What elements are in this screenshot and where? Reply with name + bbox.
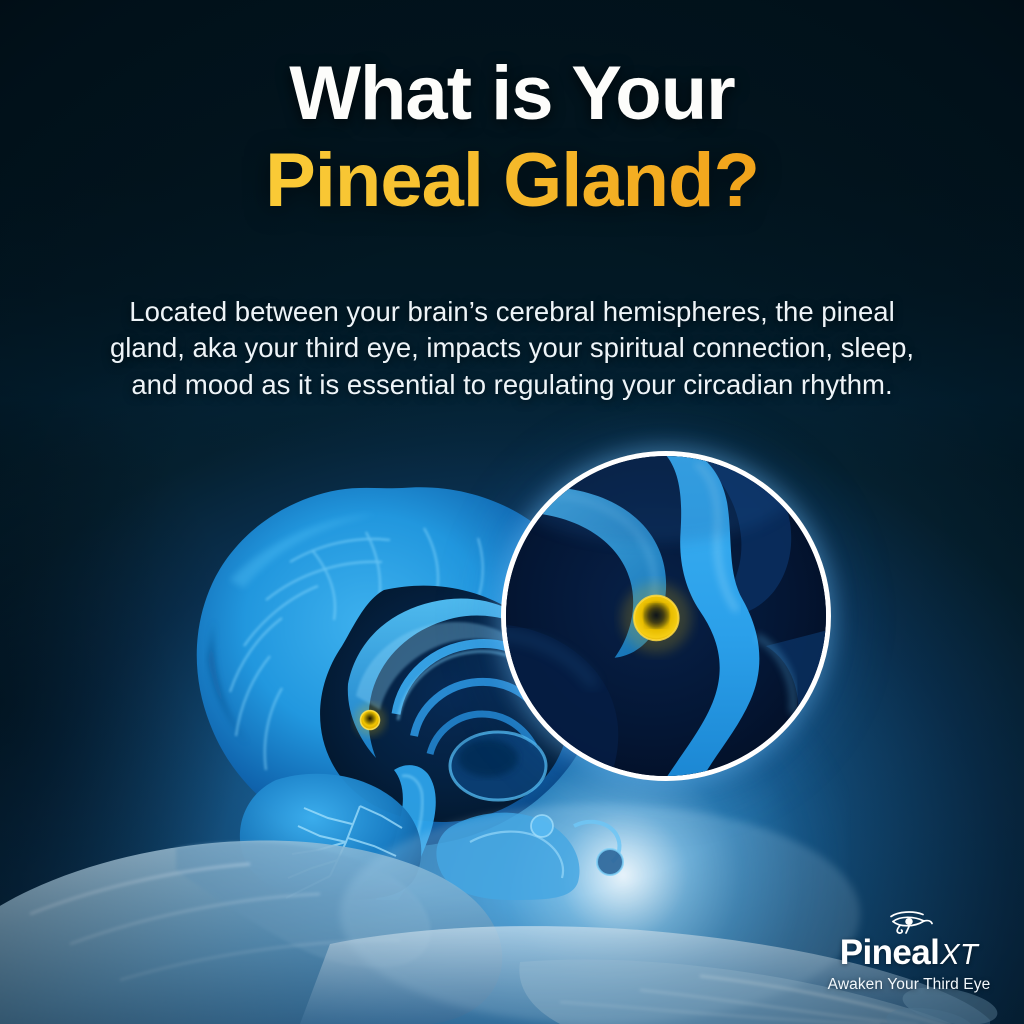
brand-suffix: XT (940, 941, 978, 970)
page-title: What is Your Pineal Gland? (0, 58, 1024, 218)
brand-name: Pineal (840, 935, 940, 970)
eye-of-horus-icon (885, 910, 933, 934)
poster-canvas: What is Your Pineal Gland? Located betwe… (0, 0, 1024, 1024)
brand-wordmark: Pineal XT (816, 935, 1002, 970)
brand-logo[interactable]: Pineal XT Awaken Your Third Eye (816, 910, 1002, 994)
body-paragraph: Located between your brain’s cerebral he… (92, 294, 932, 405)
brand-tagline: Awaken Your Third Eye (816, 976, 1002, 994)
headline-line-1: What is Your (0, 58, 1024, 131)
headline-line-2: Pineal Gland? (0, 145, 1024, 218)
